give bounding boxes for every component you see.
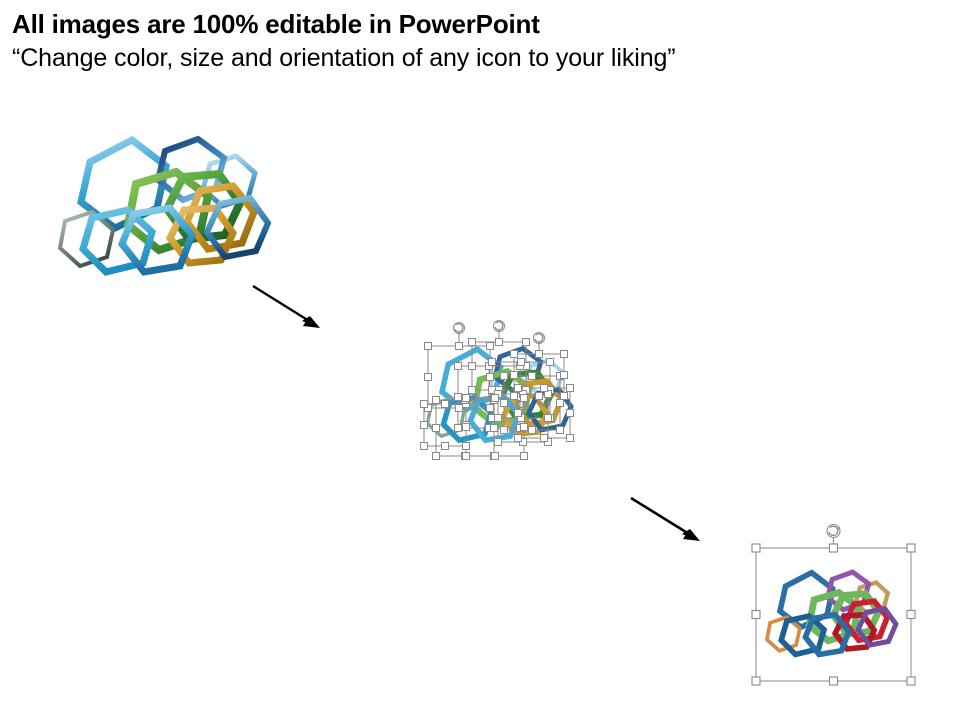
hexagon-cluster-recolored <box>767 572 896 654</box>
arrow-step-one <box>248 278 328 336</box>
resize-handle-icon[interactable] <box>561 393 568 400</box>
resize-handle-icon[interactable] <box>511 351 518 358</box>
resize-handle-icon[interactable] <box>463 453 470 460</box>
resize-handle-icon[interactable] <box>536 351 543 358</box>
resize-handle-icon[interactable] <box>442 401 449 408</box>
resize-handle-icon[interactable] <box>496 339 503 346</box>
resize-handle-icon[interactable] <box>521 424 528 431</box>
resize-handle-icon[interactable] <box>830 544 838 552</box>
resize-handle-icon[interactable] <box>541 435 548 442</box>
resize-handle-icon[interactable] <box>425 374 432 381</box>
resize-handle-icon[interactable] <box>455 425 462 432</box>
resize-handle-icon[interactable] <box>425 343 432 350</box>
resize-handle-icon[interactable] <box>511 393 518 400</box>
resize-handle-icon[interactable] <box>442 443 449 450</box>
resize-handle-icon[interactable] <box>830 677 838 685</box>
resize-handle-icon[interactable] <box>567 435 574 442</box>
resize-handle-icon[interactable] <box>433 397 440 404</box>
resize-handle-icon[interactable] <box>487 374 494 381</box>
resize-handle-icon[interactable] <box>518 359 525 366</box>
resize-handle-icon[interactable] <box>469 339 476 346</box>
original-icon-stage[interactable] <box>52 118 262 288</box>
resize-handle-icon[interactable] <box>529 427 536 434</box>
recolored-icon[interactable] <box>728 515 928 700</box>
resize-handle-icon[interactable] <box>501 427 508 434</box>
resize-handle-icon[interactable] <box>752 677 760 685</box>
resize-handle-icon[interactable] <box>501 400 508 407</box>
resize-handle-icon[interactable] <box>463 395 470 402</box>
resize-handle-icon[interactable] <box>456 343 463 350</box>
resize-handle-icon[interactable] <box>511 372 518 379</box>
resize-handle-icon[interactable] <box>561 351 568 358</box>
resize-handle-icon[interactable] <box>433 425 440 432</box>
slide-canvas: All images are 100% editable in PowerPoi… <box>0 0 960 720</box>
resize-handle-icon[interactable] <box>487 405 494 412</box>
page-title: All images are 100% editable in PowerPoi… <box>12 8 912 40</box>
resize-handle-icon[interactable] <box>491 425 498 432</box>
resize-handle-icon[interactable] <box>421 443 428 450</box>
resize-handle-icon[interactable] <box>541 385 548 392</box>
resize-handle-icon[interactable] <box>521 453 528 460</box>
resize-handle-icon[interactable] <box>501 373 508 380</box>
resize-handle-icon[interactable] <box>487 343 494 350</box>
resize-handle-icon[interactable] <box>545 415 552 422</box>
resize-handle-icon[interactable] <box>515 435 522 442</box>
arrow-step-two <box>626 490 708 550</box>
resize-handle-icon[interactable] <box>529 373 536 380</box>
resize-handle-icon[interactable] <box>557 427 564 434</box>
resize-handle-icon[interactable] <box>433 453 440 460</box>
resize-handle-icon[interactable] <box>907 544 915 552</box>
resize-handle-icon[interactable] <box>557 400 564 407</box>
resize-handle-icon[interactable] <box>495 439 502 446</box>
resize-handle-icon[interactable] <box>907 611 915 619</box>
resize-handle-icon[interactable] <box>421 422 428 429</box>
resize-handle-icon[interactable] <box>469 363 476 370</box>
arrow-icon <box>248 278 328 336</box>
resize-handle-icon[interactable] <box>567 385 574 392</box>
page-subtitle: “Change color, size and orientation of a… <box>12 41 912 75</box>
hexagon-cluster <box>60 139 268 272</box>
resize-handle-icon[interactable] <box>523 339 530 346</box>
resize-handle-icon[interactable] <box>469 387 476 394</box>
resize-handle-icon[interactable] <box>752 544 760 552</box>
ungrouped-shapes-icon[interactable] <box>410 320 580 490</box>
resize-handle-icon[interactable] <box>492 395 499 402</box>
arrow-icon <box>626 490 708 550</box>
resize-handle-icon[interactable] <box>561 372 568 379</box>
resize-handle-icon[interactable] <box>515 385 522 392</box>
resize-handle-icon[interactable] <box>455 363 462 370</box>
ungrouped-shapes-stage[interactable] <box>410 320 580 490</box>
resize-handle-icon[interactable] <box>521 395 528 402</box>
resize-handle-icon[interactable] <box>456 405 463 412</box>
heading-block: All images are 100% editable in PowerPoi… <box>12 8 912 75</box>
resize-handle-icon[interactable] <box>515 410 522 417</box>
resize-handle-icon[interactable] <box>489 359 496 366</box>
resize-handle-icon[interactable] <box>495 415 502 422</box>
resize-handle-icon[interactable] <box>907 677 915 685</box>
resize-handle-icon[interactable] <box>455 394 462 401</box>
resize-handle-icon[interactable] <box>463 424 470 431</box>
resize-handle-icon[interactable] <box>547 359 554 366</box>
resize-handle-icon[interactable] <box>536 393 543 400</box>
resize-handle-icon[interactable] <box>463 443 470 450</box>
original-icon[interactable] <box>52 118 262 288</box>
recolored-icon-stage[interactable] <box>728 515 928 700</box>
resize-handle-icon[interactable] <box>492 453 499 460</box>
resize-handle-icon[interactable] <box>567 410 574 417</box>
resize-handle-icon[interactable] <box>421 401 428 408</box>
resize-handle-icon[interactable] <box>752 611 760 619</box>
